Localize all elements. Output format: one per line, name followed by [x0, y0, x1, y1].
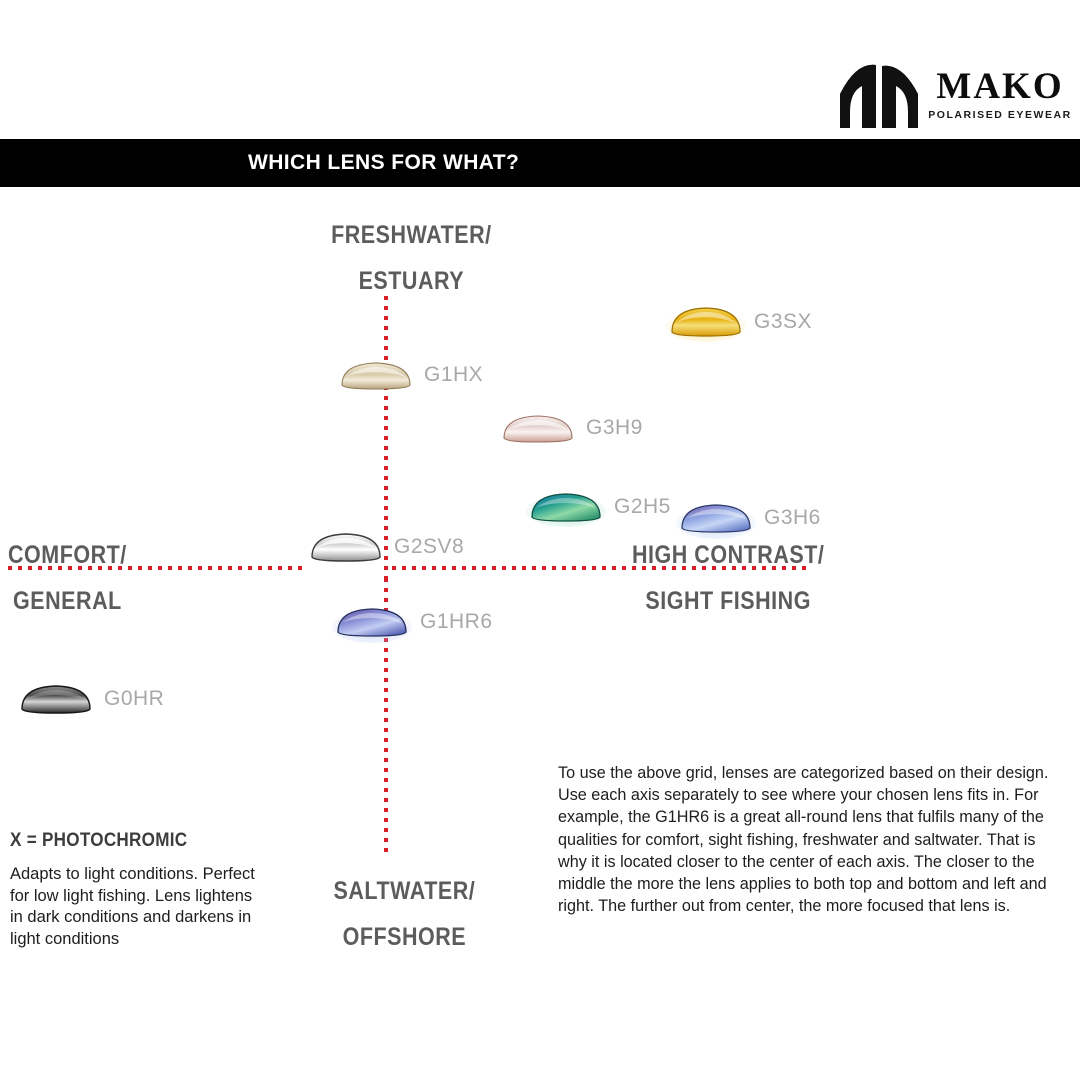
lens-swatch-indigo-icon [334, 602, 410, 642]
mako-shark-fin-logo-icon [838, 64, 920, 130]
lens-swatch-gold-icon [668, 302, 744, 342]
axis-label-right-line2: SIGHT FISHING [632, 578, 824, 624]
lens-code-g0hr: G0HR [104, 687, 164, 711]
photochromic-note-body: Adapts to light conditions. Perfect for … [10, 864, 260, 950]
lens-item-g2h5[interactable]: G2H5 [528, 487, 671, 527]
header-banner: WHICH LENS FOR WHAT? [0, 139, 1080, 187]
brand-wordmark: MAKO POLARISED EYEWEAR [926, 68, 1074, 121]
axis-label-bottom-line1: SALTWATER/ [334, 868, 476, 914]
axis-label-top: FRESHWATER/ ESTUARY [331, 212, 492, 304]
lens-item-g0hr[interactable]: G0HR [18, 679, 164, 719]
lens-code-g3h9: G3H9 [586, 416, 643, 440]
lens-code-g3sx: G3SX [754, 310, 812, 334]
lens-swatch-smoke-icon [18, 679, 94, 719]
brand-logo: MAKO POLARISED EYEWEAR [838, 62, 1074, 134]
photochromic-note: X = PHOTOCHROMIC Adapts to light conditi… [10, 830, 260, 950]
lens-item-g3h6[interactable]: G3H6 [678, 498, 821, 538]
lens-item-g3h9[interactable]: G3H9 [500, 408, 643, 448]
lens-code-g2h5: G2H5 [614, 495, 671, 519]
brand-name: MAKO [926, 68, 1074, 105]
lens-code-g1hx: G1HX [424, 363, 483, 387]
axis-label-bottom: SALTWATER/ OFFSHORE [334, 868, 476, 960]
photochromic-note-title: X = PHOTOCHROMIC [10, 830, 235, 852]
lens-code-g2sv8: G2SV8 [394, 535, 464, 559]
axis-label-left-line1: COMFORT/ [8, 532, 127, 578]
lens-item-g3sx[interactable]: G3SX [668, 302, 812, 342]
lens-code-g1hr6: G1HR6 [420, 610, 493, 634]
lens-swatch-blue-icon [678, 498, 754, 538]
axis-label-left-line2: GENERAL [8, 578, 127, 624]
axis-label-top-line1: FRESHWATER/ [331, 212, 492, 258]
lens-item-g1hx[interactable]: G1HX [338, 355, 483, 395]
lens-swatch-silver-icon [308, 527, 384, 567]
lens-item-g2sv8[interactable]: G2SV8 [308, 527, 464, 567]
lens-code-g3h6: G3H6 [764, 506, 821, 530]
lens-item-g1hr6[interactable]: G1HR6 [334, 602, 493, 642]
page-title: WHICH LENS FOR WHAT? [248, 151, 519, 175]
axis-label-right: HIGH CONTRAST/ SIGHT FISHING [632, 532, 824, 624]
lens-swatch-teal-icon [528, 487, 604, 527]
axis-label-right-line1: HIGH CONTRAST/ [632, 532, 824, 578]
axis-label-left: COMFORT/ GENERAL [8, 532, 127, 624]
brand-tagline: POLARISED EYEWEAR [926, 109, 1074, 121]
lens-swatch-rose-icon [500, 408, 576, 448]
axis-label-top-line2: ESTUARY [331, 258, 492, 304]
grid-explanation-text: To use the above grid, lenses are catego… [558, 762, 1068, 917]
axis-label-bottom-line2: OFFSHORE [334, 914, 476, 960]
lens-swatch-tan-icon [338, 355, 414, 395]
